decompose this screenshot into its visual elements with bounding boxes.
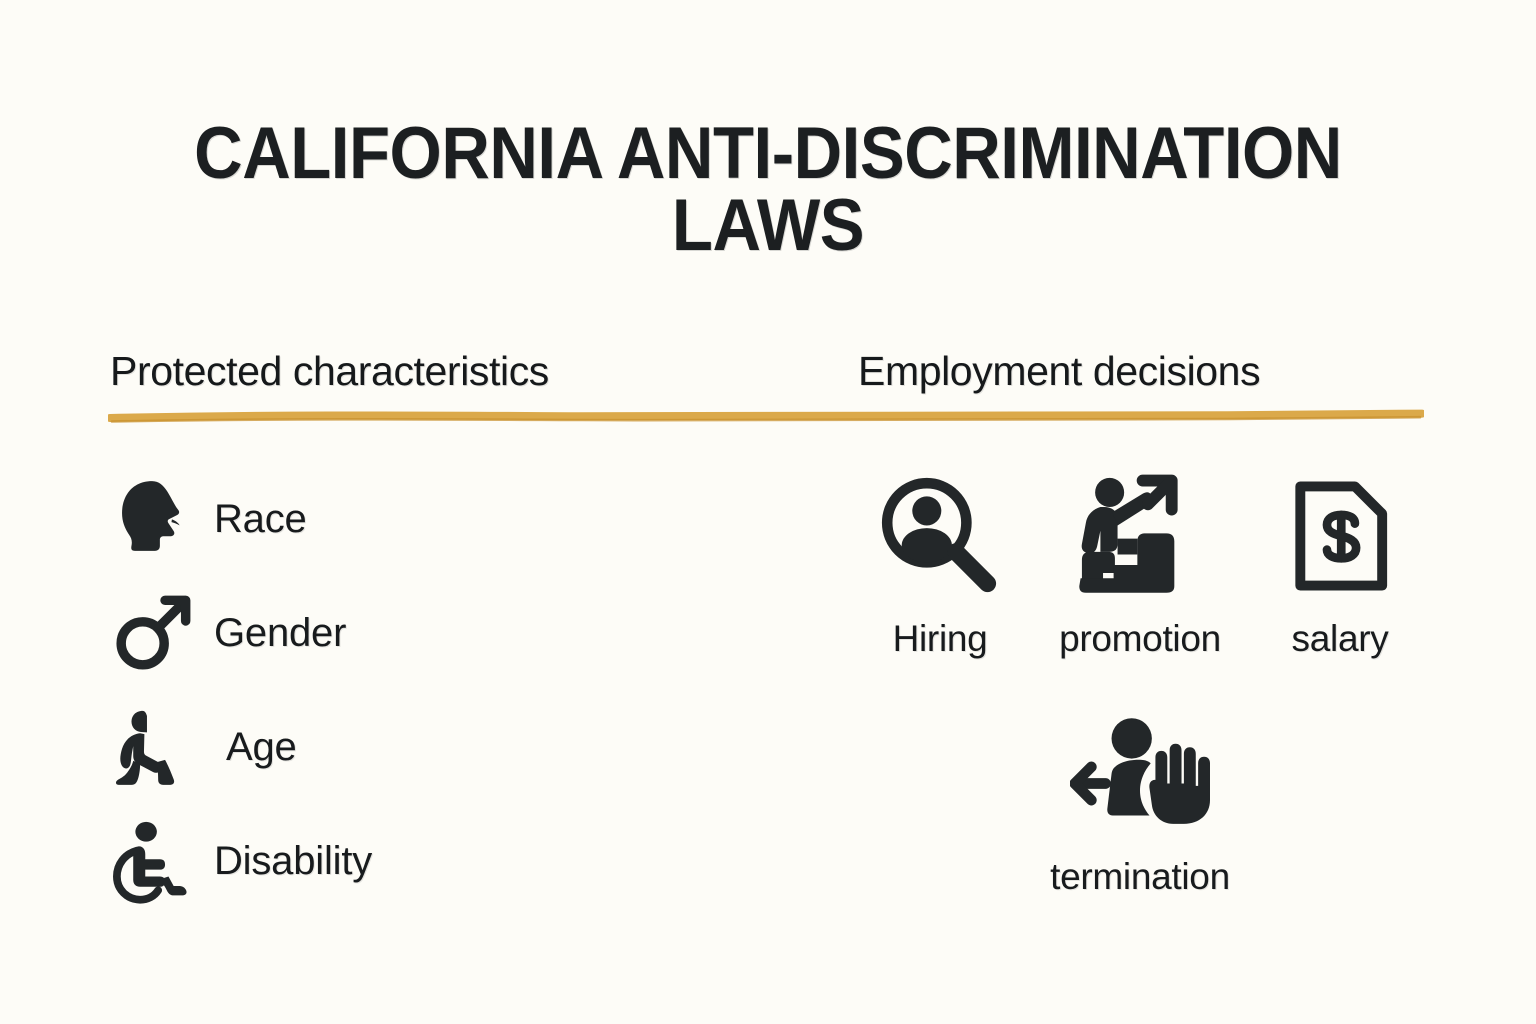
- list-item-age: Age: [110, 690, 730, 804]
- list-item-label: Gender: [214, 611, 346, 656]
- wheelchair-accessibility-icon: [110, 818, 214, 904]
- decision-item-termination: termination: [1040, 700, 1240, 898]
- decision-item-label: Hiring: [893, 618, 988, 660]
- list-item-gender: Gender: [110, 576, 730, 690]
- protected-characteristics-list: Race Gender: [110, 462, 730, 918]
- employment-decisions-group: Hiring: [840, 462, 1440, 898]
- person-stop-hand-left-arrow-icon: [1070, 700, 1210, 848]
- section-divider: [108, 404, 1424, 430]
- list-item-label: Race: [214, 497, 307, 542]
- column-heading-protected-characteristics: Protected characteristics: [110, 348, 549, 395]
- decision-item-salary: salary: [1240, 462, 1440, 660]
- infographic-canvas: CALIFORNIA ANTI-DISCRIMINATION LAWS Prot…: [0, 0, 1536, 1024]
- list-item-race: Race: [110, 462, 730, 576]
- decision-item-label: promotion: [1059, 618, 1221, 660]
- column-heading-employment-decisions: Employment decisions: [858, 348, 1260, 395]
- employment-decisions-row-bottom: termination: [840, 700, 1440, 898]
- list-item-label: Age: [214, 725, 297, 770]
- list-item-label: Disability: [214, 839, 372, 884]
- head-profile-icon: [110, 476, 214, 562]
- elderly-person-walking-icon: [110, 704, 214, 790]
- document-dollar-sign-icon: [1278, 462, 1402, 610]
- decision-item-label: salary: [1292, 618, 1389, 660]
- person-search-magnifier-icon: [874, 462, 1006, 610]
- person-climbing-stairs-arrow-up-icon: [1074, 462, 1206, 610]
- decision-item-label: termination: [1050, 856, 1230, 898]
- page-title: CALIFORNIA ANTI-DISCRIMINATION LAWS: [161, 118, 1375, 261]
- decision-item-promotion: promotion: [1040, 462, 1240, 660]
- decision-item-hiring: Hiring: [840, 462, 1040, 660]
- male-gender-symbol-icon: [110, 590, 214, 676]
- employment-decisions-row-top: Hiring: [840, 462, 1440, 660]
- list-item-disability: Disability: [110, 804, 730, 918]
